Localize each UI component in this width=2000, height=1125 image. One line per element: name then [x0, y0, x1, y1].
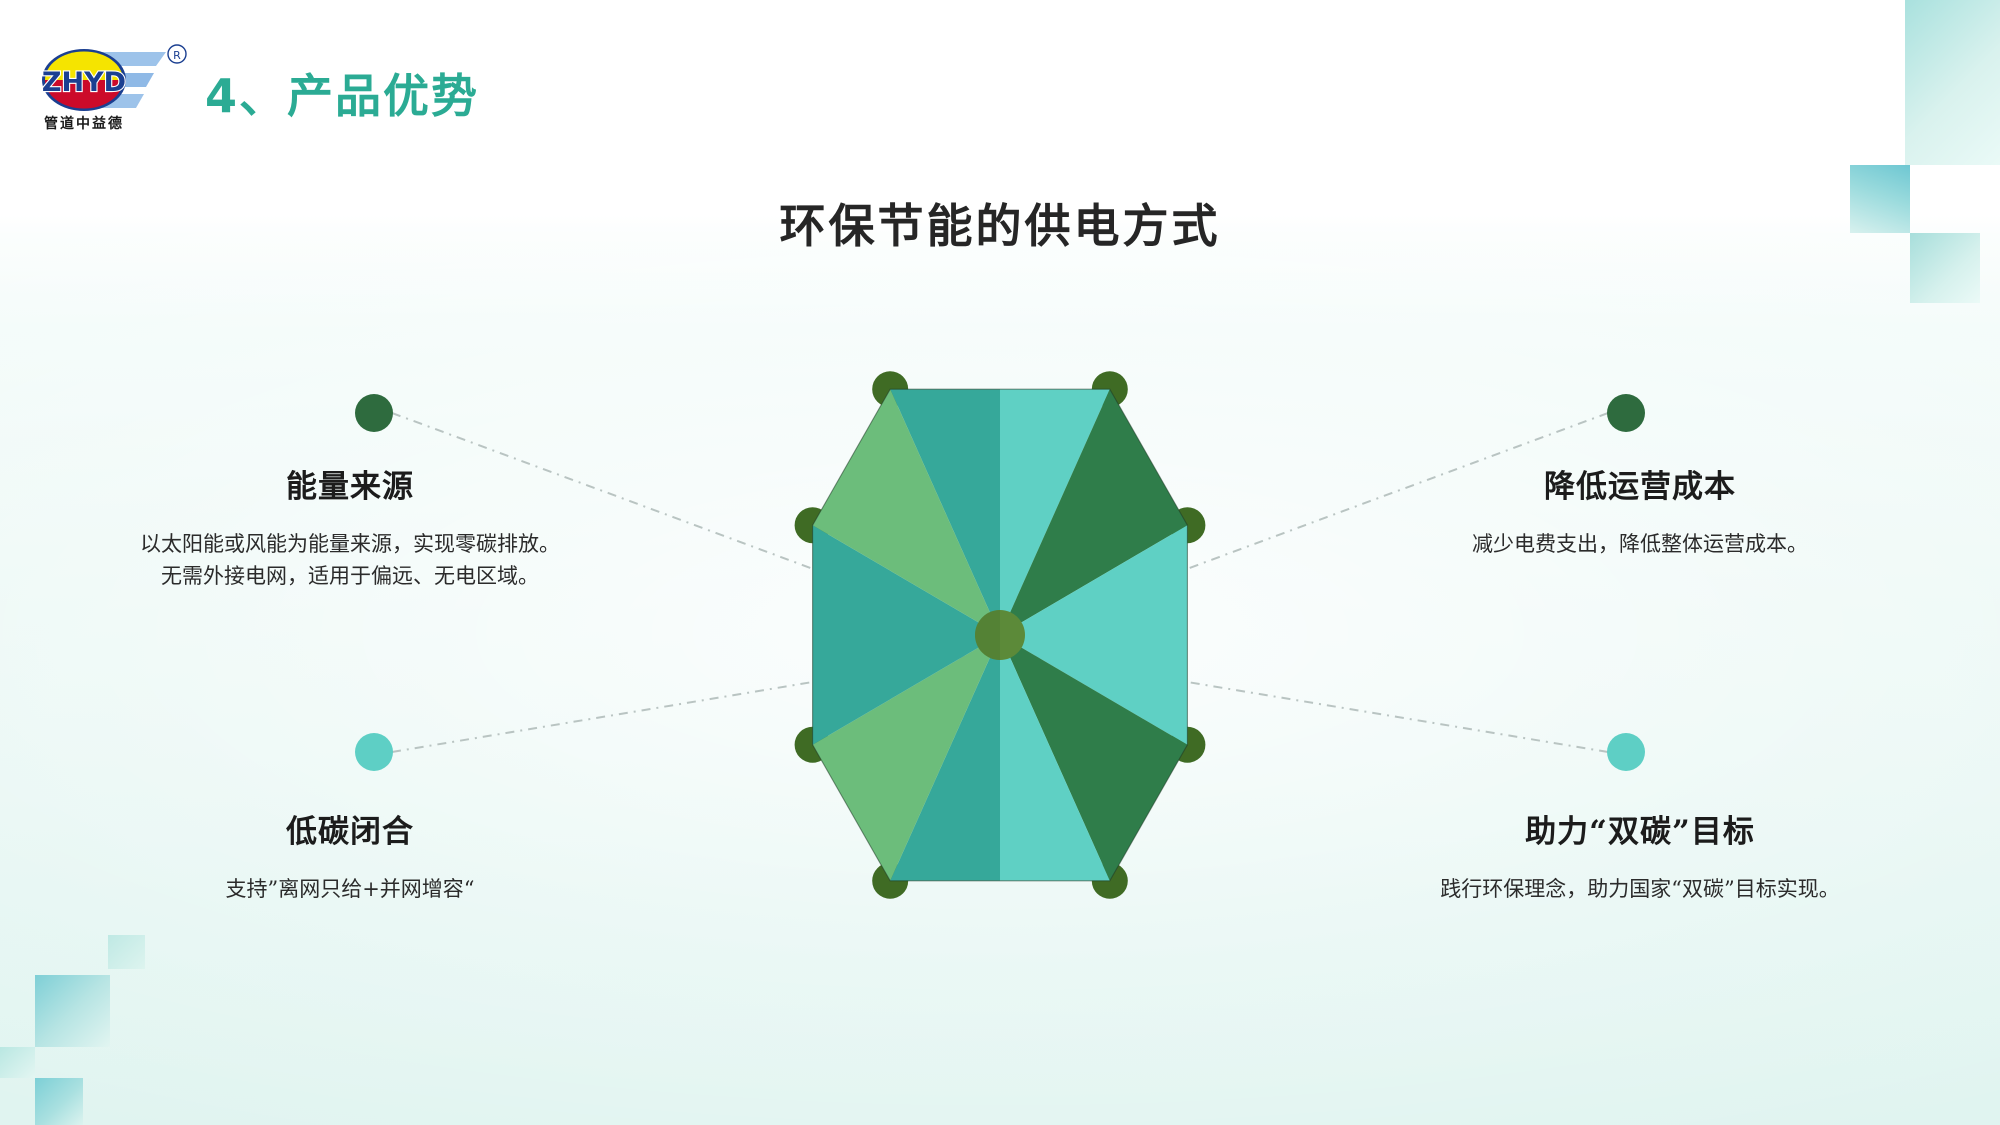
- callout-energy-source: 能量来源 以太阳能或风能为能量来源，实现零碳排放。无需外接电网，适用于偏远、无电…: [130, 470, 570, 593]
- callout-heading-dual-carbon: 助力“双碳”目标: [1420, 815, 1860, 851]
- slide-title: 环保节能的供电方式: [0, 190, 2000, 256]
- decor-square-bottom-left-4: [35, 1078, 83, 1125]
- background-highlight: [0, 230, 2000, 1125]
- slide-canvas: ZHYD R 管道中益德 4、产品优势 环保节能的供电方式: [0, 0, 2000, 1125]
- callout-heading-reduce-cost: 降低运营成本: [1420, 470, 1860, 506]
- company-logo: ZHYD R 管道中益德: [38, 40, 198, 135]
- callout-dual-carbon: 助力“双碳”目标 践行环保理念，助力国家“双碳”目标实现。: [1420, 815, 1860, 905]
- callout-body-reduce-cost: 减少电费支出，降低整体运营成本。: [1420, 528, 1860, 561]
- logo-wordmark: ZHYD: [42, 67, 126, 98]
- callout-low-carbon: 低碳闭合 支持”离网只给+并网增容“: [130, 815, 570, 905]
- decor-square-bottom-left-2: [108, 935, 145, 969]
- registered-mark-icon: R: [173, 49, 181, 62]
- callout-body-low-carbon: 支持”离网只给+并网增容“: [130, 873, 570, 906]
- callout-body-energy-source: 以太阳能或风能为能量来源，实现零碳排放。无需外接电网，适用于偏远、无电区域。: [130, 528, 570, 593]
- callout-heading-low-carbon: 低碳闭合: [130, 815, 570, 851]
- callout-reduce-cost: 降低运营成本 减少电费支出，降低整体运营成本。: [1420, 470, 1860, 560]
- callout-body-dual-carbon: 践行环保理念，助力国家“双碳”目标实现。: [1420, 873, 1860, 906]
- decor-square-bottom-left-1: [35, 975, 110, 1047]
- decor-square-bottom-left-3: [0, 1047, 35, 1078]
- decor-square-top-right-1: [1905, 0, 2000, 165]
- callout-heading-energy-source: 能量来源: [130, 470, 570, 506]
- logo-subtext: 管道中益德: [44, 115, 124, 132]
- section-title: 4、产品优势: [205, 60, 479, 126]
